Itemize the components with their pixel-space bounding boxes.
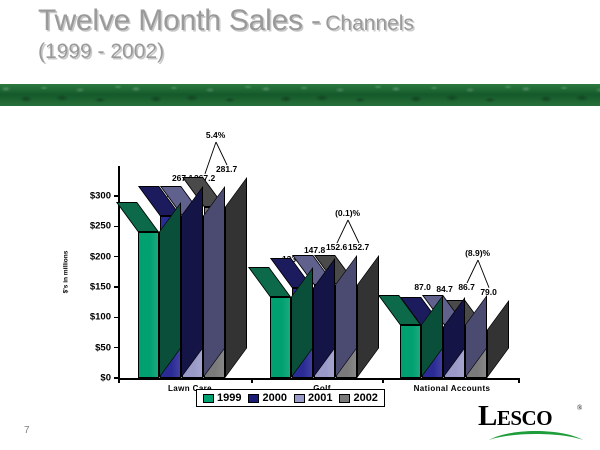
category-axis-tick	[382, 378, 384, 383]
page-number: 7	[24, 425, 30, 436]
y-axis-tick-mark	[114, 317, 118, 319]
legend-label: 2001	[308, 392, 332, 404]
legend-swatch-icon	[248, 394, 259, 403]
slide-title-block: Twelve Month Sales - Channels (1999 - 20…	[38, 6, 578, 62]
bar-side-face	[181, 186, 203, 378]
y-axis-tick-label: $50	[95, 342, 111, 353]
bar-side-face	[159, 202, 181, 378]
legend-label: 2000	[262, 392, 286, 404]
bar-chart: $'s in millions $0$50$100$150$200$250$30…	[0, 106, 600, 406]
lesco-logo: LESCO ®	[478, 402, 590, 442]
y-axis-title: $'s in millions	[63, 251, 70, 294]
legend-label: 2002	[353, 392, 377, 404]
bar-front-face	[138, 232, 159, 378]
y-axis-tick-mark	[114, 256, 118, 258]
slide-canvas: Twelve Month Sales - Channels (1999 - 20…	[0, 0, 600, 450]
legend-item-2001[interactable]: 2001	[294, 392, 332, 404]
y-axis-tick-label: $200	[90, 251, 111, 262]
x-axis-line	[118, 378, 518, 380]
bar-1999-golf	[270, 297, 291, 378]
bar-value-label: 147.8	[304, 245, 325, 255]
bar-value-label: 87.0	[414, 282, 431, 292]
category-axis-tick	[118, 378, 120, 383]
y-axis-tick-mark	[114, 347, 118, 349]
bar-value-label: 84.7	[436, 284, 453, 294]
bar-side-face	[203, 186, 225, 378]
annotation-leader-line	[461, 258, 495, 291]
bar-side-face	[225, 177, 247, 378]
y-axis-tick-mark	[114, 195, 118, 197]
annotation-leader-line	[199, 140, 233, 177]
bar-front-face	[400, 325, 421, 378]
legend-swatch-icon	[294, 394, 305, 403]
green-divider-band	[0, 84, 600, 106]
chart-plot-area: $'s in millions $0$50$100$150$200$250$30…	[118, 166, 518, 378]
page-title: Twelve Month Sales -	[38, 4, 321, 37]
slide-title-line-1: Twelve Month Sales - Channels	[38, 6, 578, 36]
swoosh-icon	[488, 427, 584, 441]
y-axis-tick-label: $150	[90, 282, 111, 293]
y-axis-tick-label: $250	[90, 221, 111, 232]
legend-item-2000[interactable]: 2000	[248, 392, 286, 404]
category-axis-tick	[518, 378, 520, 383]
growth-annotation-national-accounts: (8.9)%	[465, 248, 490, 258]
bar-1999-lawn-care	[138, 232, 159, 378]
category-axis-tick	[251, 378, 253, 383]
growth-annotation-lawn-care: 5.4%	[206, 130, 225, 140]
legend-label: 1999	[217, 392, 241, 404]
bar-1999-national-accounts	[400, 325, 421, 378]
legend-item-1999[interactable]: 1999	[203, 392, 241, 404]
legend-swatch-icon	[203, 394, 214, 403]
y-axis-line	[118, 166, 120, 378]
category-label-national-accounts: National Accounts	[414, 384, 491, 393]
y-axis-tick-label: $300	[90, 191, 111, 202]
bar-side-face	[487, 300, 509, 378]
y-axis-tick-label: $100	[90, 312, 111, 323]
y-axis-tick-mark	[114, 226, 118, 228]
page-title-years: (1999 - 2002)	[38, 41, 578, 62]
registered-mark-icon: ®	[577, 404, 582, 412]
growth-annotation-golf: (0.1)%	[335, 208, 360, 218]
page-subtitle: Channels	[325, 12, 414, 35]
bar-front-face	[270, 297, 291, 378]
annotation-leader-line	[331, 218, 365, 246]
chart-legend: 1999200020012002	[196, 389, 385, 407]
legend-swatch-icon	[339, 394, 350, 403]
y-axis-tick-mark	[114, 286, 118, 288]
bar-side-face	[357, 255, 379, 378]
legend-item-2002[interactable]: 2002	[339, 392, 377, 404]
y-axis-tick-label: $0	[100, 373, 111, 384]
